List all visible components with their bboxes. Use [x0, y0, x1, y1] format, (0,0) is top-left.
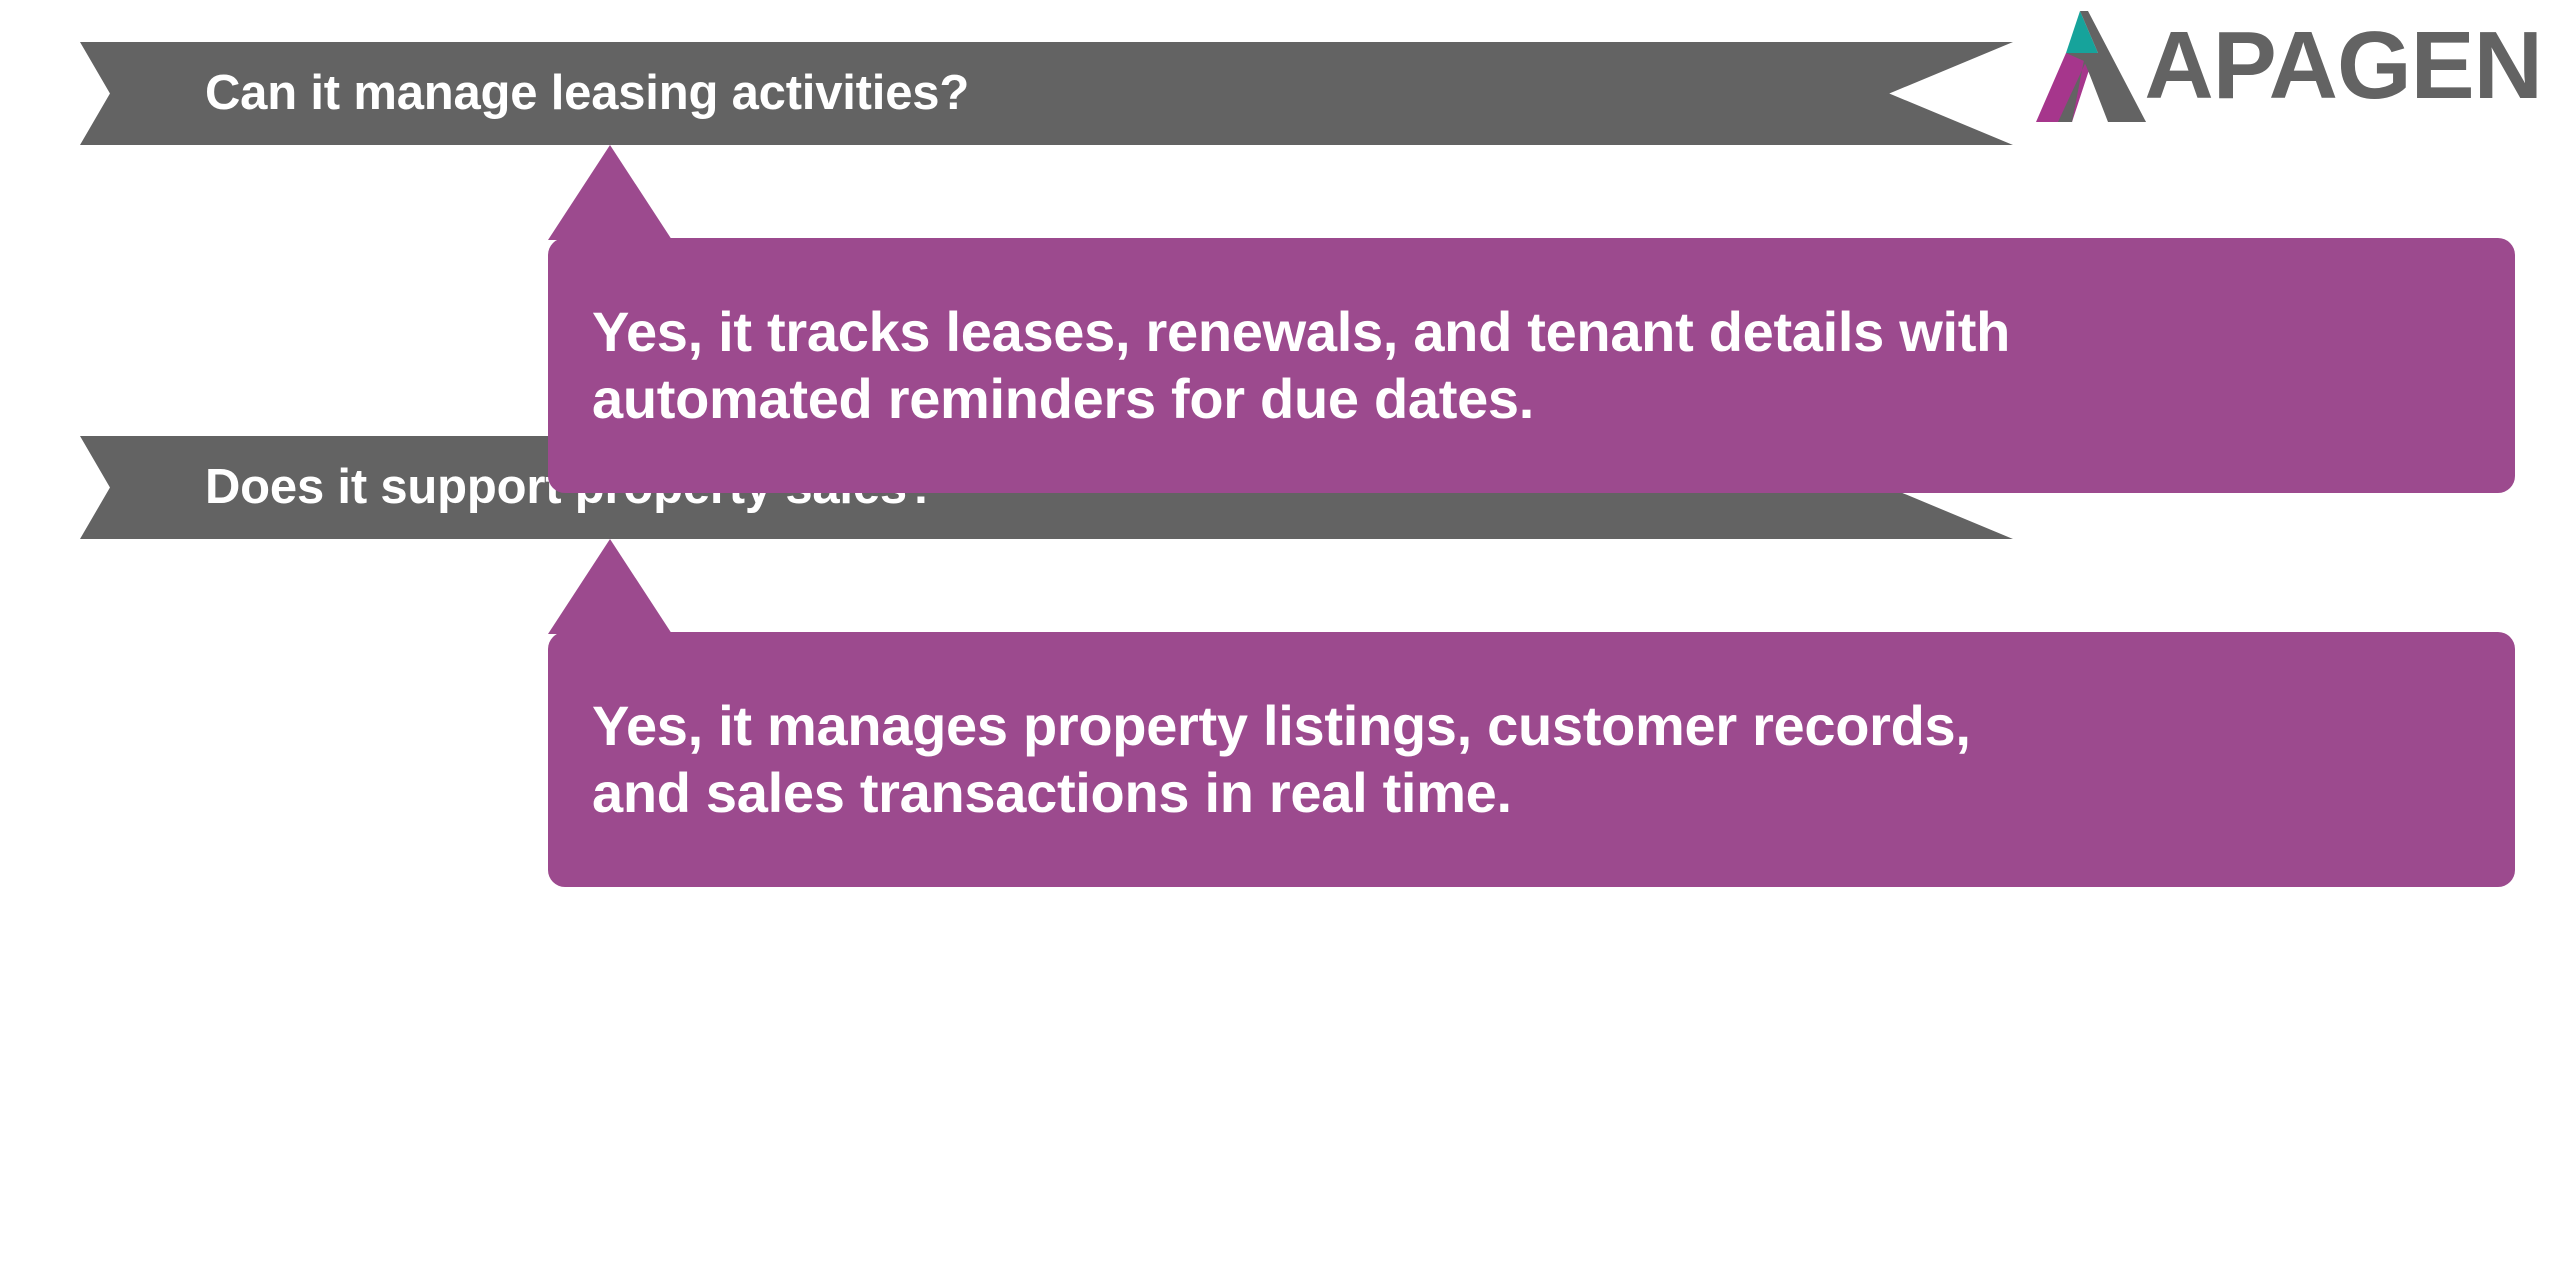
answer-line: Yes, it manages property listings, custo…	[592, 693, 2471, 759]
answer-bubble[interactable]: Yes, it manages property listings, custo…	[548, 632, 2515, 887]
answer-bubble[interactable]: Yes, it tracks leases, renewals, and ten…	[548, 238, 2515, 493]
question-text: Can it manage leasing activities?	[80, 69, 969, 118]
pointer-spacer	[0, 145, 2560, 238]
answer-container: Yes, it manages property listings, custo…	[0, 539, 2560, 887]
answer-pointer-icon	[548, 539, 688, 634]
answer-line: automated reminders for due dates.	[592, 366, 2471, 432]
answer-line: Yes, it tracks leases, renewals, and ten…	[592, 299, 2471, 365]
answer-line: and sales transactions in real time.	[592, 760, 2471, 826]
pointer-spacer	[0, 539, 2560, 632]
faq-item: Does it support property sales? Yes, it …	[0, 436, 2560, 887]
answer-pointer-icon	[548, 145, 688, 240]
question-ribbon[interactable]: Can it manage leasing activities?	[80, 42, 2013, 145]
faq-item: Can it manage leasing activities? Yes, i…	[0, 42, 2560, 493]
